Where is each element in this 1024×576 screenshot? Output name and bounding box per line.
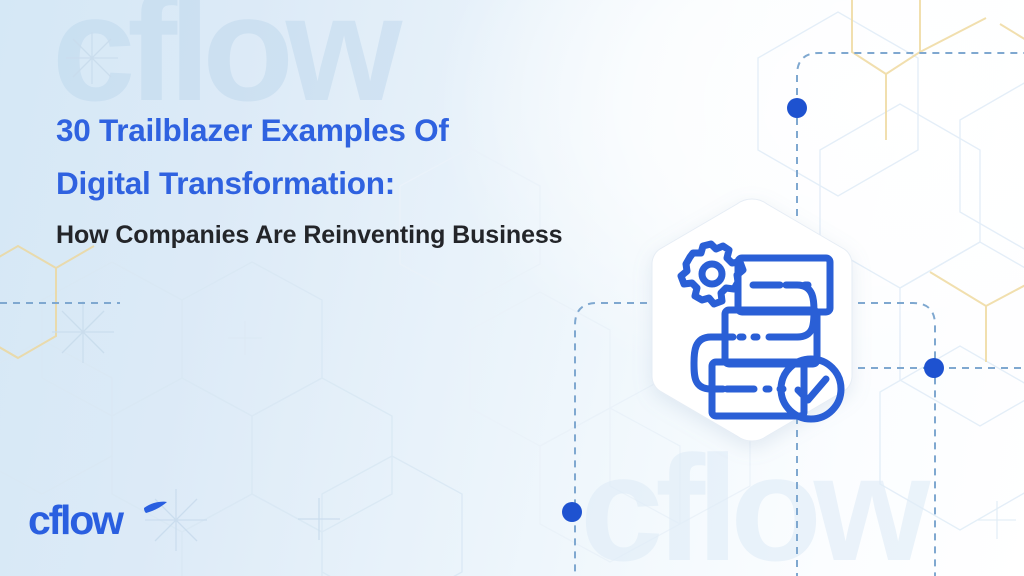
page-title-line-2: Digital Transformation:: [56, 157, 696, 210]
swoosh-accent: [144, 502, 167, 513]
banner-canvas: cflow cflow: [0, 0, 1024, 576]
hexagon-mesh-decoration: [0, 0, 1024, 576]
brand-logo[interactable]: cflow: [28, 498, 168, 544]
node-right-mid: [924, 358, 944, 378]
page-subtitle: How Companies Are Reinventing Business: [56, 219, 696, 251]
node-bottom-left: [562, 502, 582, 522]
dashed-connector-network: [0, 0, 1024, 576]
hero-text-block: 30 Trailblazer Examples Of Digital Trans…: [56, 104, 696, 251]
cross-marker-decoration: [0, 0, 1024, 576]
node-top-right: [787, 98, 807, 118]
watermark-layer: cflow cflow: [0, 0, 1024, 576]
brand-logo-text: cflow: [28, 498, 124, 543]
page-title-line-1: 30 Trailblazer Examples Of: [56, 104, 696, 157]
watermark-bottom: cflow: [580, 422, 922, 576]
gold-hexagon-outline-decoration: [0, 0, 1024, 576]
